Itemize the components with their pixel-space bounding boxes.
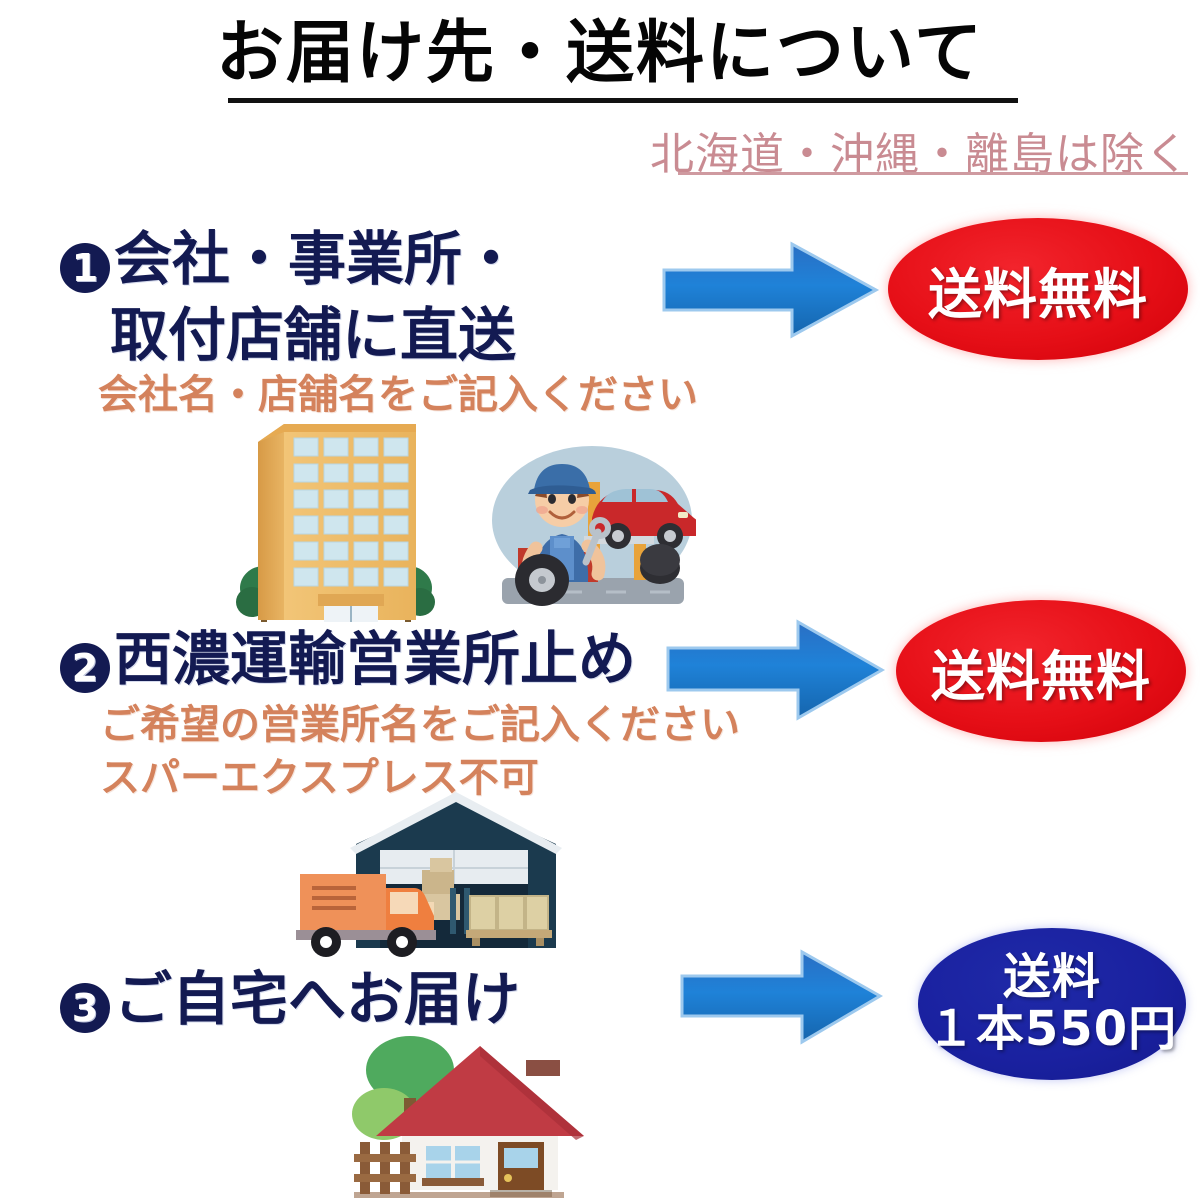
section-2-badge: 送料無料 [896, 600, 1186, 742]
section-3-badge-label-line2: １本550円 [927, 1004, 1177, 1056]
section-2-note-1: ご希望の営業所名をご記入ください [100, 692, 740, 750]
office-building-illustration [236, 412, 436, 624]
section-2-number: 2 [60, 643, 110, 693]
section-1-heading-text1: 会社・事業所・ [114, 225, 520, 293]
page-title-underline [228, 98, 1018, 103]
page-subtitle-underline [678, 172, 1188, 175]
right-arrow-icon [678, 948, 884, 1046]
section-1-badge: 送料無料 [888, 218, 1188, 360]
section-1-heading-line1: 1会社・事業所・ [60, 212, 520, 296]
section-1-badge-label: 送料無料 [928, 250, 1148, 329]
section-3-number: 3 [60, 983, 110, 1033]
mechanic-illustration [484, 440, 696, 618]
section-2-heading-text1: 西濃運輸営業所止め [114, 625, 636, 693]
section-1-number: 1 [60, 243, 110, 293]
page-title: お届け先・送料について [0, 18, 1200, 89]
warehouse-truck-illustration [284, 792, 594, 960]
right-arrow-icon [660, 240, 880, 340]
section-2-heading-line1: 2西濃運輸営業所止め [60, 612, 636, 696]
shipping-info-infographic: お届け先・送料について 北海道・沖縄・離島は除く 1会社・事業所・ 取付店舗に直… [0, 0, 1200, 1200]
section-2-badge-label: 送料無料 [931, 632, 1151, 711]
section-3-badge-label-line1: 送料 [927, 952, 1177, 1004]
section-1-heading-line2: 取付店舗に直送 [110, 288, 516, 372]
house-illustration [348, 1022, 612, 1200]
section-3-badge: 送料 １本550円 [918, 928, 1186, 1080]
right-arrow-icon [664, 618, 886, 722]
